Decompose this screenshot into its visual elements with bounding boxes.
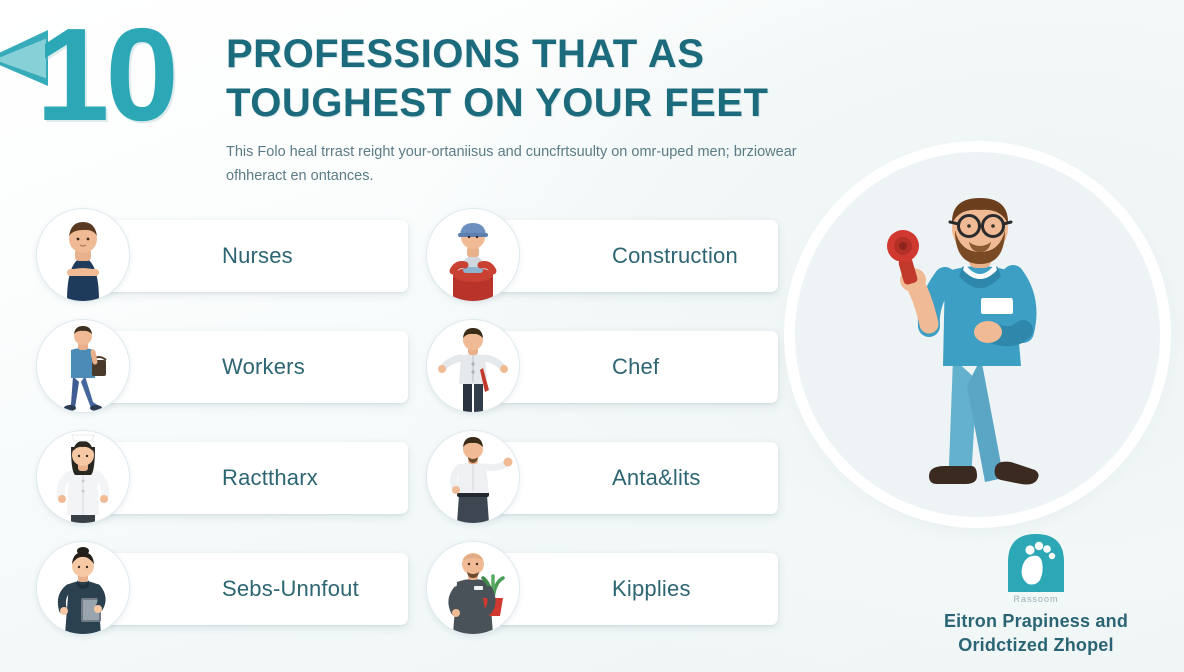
profession-list: Nurses xyxy=(36,208,796,652)
brand-name-line-2: Oridctized Zhopel xyxy=(905,633,1167,657)
avatar-nurse-male-arms-crossed-icon xyxy=(36,208,130,302)
list-item-label: Anta&lits xyxy=(612,465,701,491)
avatar-man-gesturing-icon xyxy=(426,430,520,524)
list-item-label: Workers xyxy=(222,354,305,380)
page-subtitle: This Folo heal trrast reight your-ortani… xyxy=(226,140,851,188)
avatar-man-holding-plant-icon xyxy=(426,541,520,635)
list-item-label: Sebs-Unnfout xyxy=(222,576,359,602)
big-number: 10 xyxy=(36,16,175,134)
footprint-badge-icon xyxy=(1000,528,1072,592)
list-item-card[interactable]: Nurses xyxy=(82,220,408,292)
avatar-nurse-female-cap-icon xyxy=(36,430,130,524)
infographic-canvas: 10 PROFESSIONS THAT AS TOUGHEST ON YOUR … xyxy=(0,0,1184,672)
brand-name-line-1: Eitron Prapiness and xyxy=(905,609,1167,633)
brand-block: Rassoom Eitron Prapiness and Oridctized … xyxy=(905,528,1167,657)
list-item-label: Racttharx xyxy=(222,465,318,491)
list-item[interactable]: Nurses xyxy=(36,208,426,319)
page-title-line-1: PROFESSIONS THAT AS xyxy=(226,30,876,79)
avatar-chef-arms-out-icon xyxy=(426,319,520,413)
list-item[interactable]: Anta&lits xyxy=(426,430,796,541)
list-item[interactable]: Sebs-Unnfout xyxy=(36,541,426,652)
list-item[interactable]: Construction xyxy=(426,208,796,319)
title-block: PROFESSIONS THAT AS TOUGHEST ON YOUR FEE… xyxy=(226,30,876,188)
illustration-male-nurse-with-device-icon xyxy=(845,180,1115,510)
page-title-line-2: TOUGHEST ON YOUR FEET xyxy=(226,79,876,128)
list-item[interactable]: Workers xyxy=(36,319,426,430)
list-item-label: Nurses xyxy=(222,243,293,269)
list-item-label: Chef xyxy=(612,354,659,380)
list-item[interactable]: Kipplies xyxy=(426,541,796,652)
list-item-card[interactable]: Sebs-Unnfout xyxy=(82,553,408,625)
list-item[interactable]: Racttharx xyxy=(36,430,426,541)
list-item-card[interactable]: Workers xyxy=(82,331,408,403)
list-item-card[interactable]: Racttharx xyxy=(82,442,408,514)
avatar-worker-walking-bucket-icon xyxy=(36,319,130,413)
list-item-label: Construction xyxy=(612,243,738,269)
brand-badge-sub: Rassoom xyxy=(905,594,1167,604)
list-item-label: Kipplies xyxy=(612,576,691,602)
list-item[interactable]: Chef xyxy=(426,319,796,430)
avatar-nurse-female-tablet-icon xyxy=(36,541,130,635)
avatar-construction-worker-icon xyxy=(426,208,520,302)
